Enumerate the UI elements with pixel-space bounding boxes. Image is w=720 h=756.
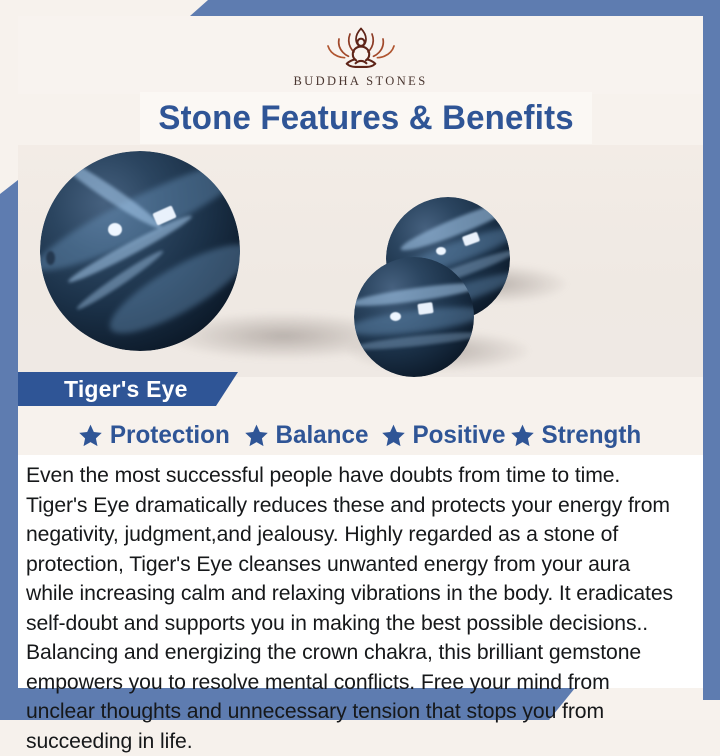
infographic-canvas: BUDDHA STONES Stone Features & Benefits xyxy=(0,0,720,720)
brand-name: BUDDHA STONES xyxy=(293,74,427,89)
star-icon xyxy=(244,423,269,448)
frame-bar-left xyxy=(0,180,18,720)
frame-bar-right xyxy=(703,0,720,700)
description-panel: Even the most successful people have dou… xyxy=(18,455,703,688)
benefit-item: Strength xyxy=(510,421,643,450)
description-text: Even the most successful people have dou… xyxy=(26,461,679,756)
page-title: Stone Features & Benefits xyxy=(158,99,573,138)
stone-name-banner: Tiger's Eye xyxy=(18,372,238,406)
benefit-item: Balance xyxy=(244,421,379,450)
frame-bar-top xyxy=(190,0,720,16)
lotus-meditation-icon xyxy=(302,22,420,72)
benefit-label: Balance xyxy=(275,421,368,450)
brand-logo: BUDDHA STONES xyxy=(293,22,427,89)
stone-sphere-large xyxy=(40,151,240,351)
star-icon xyxy=(510,423,535,448)
stone-sphere-small xyxy=(354,257,474,377)
star-icon xyxy=(78,423,103,448)
stone-name: Tiger's Eye xyxy=(18,376,188,403)
benefit-label: Protection xyxy=(110,421,230,450)
brand-header: BUDDHA STONES xyxy=(18,16,703,94)
benefit-label: Strength xyxy=(542,421,642,450)
title-banner: Stone Features & Benefits xyxy=(140,92,592,144)
benefits-row: Protection Balance Positive Strength xyxy=(18,415,703,455)
benefit-item: Positive xyxy=(381,421,507,450)
star-icon xyxy=(381,423,406,448)
stone-photo xyxy=(18,145,703,377)
benefit-item: Protection xyxy=(78,421,241,450)
benefit-label: Positive xyxy=(413,421,506,450)
